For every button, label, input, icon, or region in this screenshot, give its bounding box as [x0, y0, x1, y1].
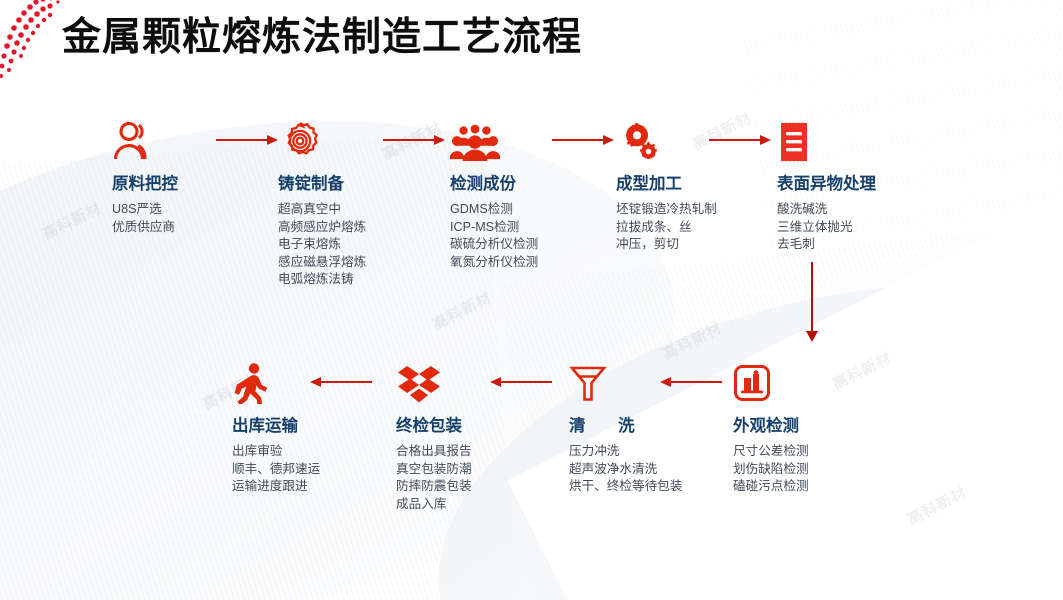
- node-line: 磕碰污点检测: [733, 478, 851, 496]
- node-title: 检测成份: [450, 170, 600, 194]
- node-line: 坯锭锻造冷热轧制: [616, 201, 766, 219]
- node-title: 成型加工: [616, 170, 766, 194]
- node-title: 原料把控: [112, 170, 262, 194]
- node-line: 氧氮分析仪检测: [450, 254, 568, 272]
- flow-node-outbound-transport[interactable]: 出库运输 出库审验 顺丰、德邦速运 运输进度跟进: [232, 352, 382, 496]
- node-line: 压力冲洗: [569, 443, 687, 461]
- node-line: ICP-MS检测: [450, 219, 568, 237]
- node-line: 冲压，剪切: [616, 236, 766, 254]
- node-line: 防摔防震包装: [396, 478, 514, 496]
- node-line: 真空包装防潮: [396, 461, 514, 479]
- page-title: 金属颗粒熔炼法制造工艺流程: [62, 6, 582, 62]
- node-detail-lines: U8S严选 优质供应商: [112, 201, 262, 236]
- inspection-box-icon: [733, 352, 883, 404]
- flow-row-1: 原料把控 U8S严选 优质供应商 铸锭制备 超高真空中 高频感应炉熔炼 电子束熔…: [0, 110, 1063, 290]
- node-line: 酸洗碱洗: [777, 201, 927, 219]
- node-title: 出库运输: [232, 412, 382, 436]
- node-line: 合格出具报告: [396, 443, 514, 461]
- node-line: 拉拔成条、丝: [616, 219, 766, 237]
- node-title: 清 洗: [569, 412, 719, 436]
- node-title: 铸锭制备: [278, 170, 428, 194]
- node-line: 三维立体抛光: [777, 219, 927, 237]
- node-line: 超声波净水清洗: [569, 461, 687, 479]
- node-detail-lines: 压力冲洗 超声波净水清洗 烘干、终检等待包装: [569, 443, 719, 496]
- node-line: 高频感应炉熔炼: [278, 219, 396, 237]
- node-title: 表面异物处理: [777, 170, 927, 194]
- flow-arrow-right: [552, 134, 614, 146]
- flow-node-cleaning[interactable]: 清 洗 压力冲洗 超声波净水清洗 烘干、终检等待包装: [569, 352, 719, 496]
- node-detail-lines: 尺寸公差检测 划伤缺陷检测 磕碰污点检测: [733, 443, 883, 496]
- flow-arrow-left: [490, 376, 552, 388]
- node-line: 划伤缺陷检测: [733, 461, 851, 479]
- node-line: 优质供应商: [112, 219, 230, 237]
- flow-arrow-left: [310, 376, 372, 388]
- flow-arrow-down: [806, 262, 818, 342]
- node-line: 成品入库: [396, 496, 514, 514]
- node-line: 顺丰、德邦速运: [232, 461, 350, 479]
- node-line: U8S严选: [112, 201, 230, 219]
- node-line: 感应磁悬浮熔炼: [278, 254, 396, 272]
- node-title: 外观检测: [733, 412, 883, 436]
- node-detail-lines: 合格出具报告 真空包装防潮 防摔防震包装 成品入库: [396, 443, 546, 513]
- node-line: 烘干、终检等待包装: [569, 478, 687, 496]
- node-detail-lines: 酸洗碱洗 三维立体抛光 去毛刺: [777, 201, 927, 254]
- watermark: 高科新材: [429, 287, 496, 335]
- node-line: 电子束熔炼: [278, 236, 396, 254]
- node-line: 去毛刺: [777, 236, 927, 254]
- node-detail-lines: 超高真空中 高频感应炉熔炼 电子束熔炼 感应磁悬浮熔炼 电弧熔炼法铸: [278, 201, 428, 289]
- page-header: 金属颗粒熔炼法制造工艺流程: [0, 0, 1063, 78]
- node-title: 终检包装: [396, 412, 546, 436]
- node-line: 电弧熔炼法铸: [278, 271, 396, 289]
- document-lines-icon: [777, 110, 927, 162]
- node-detail-lines: 出库审验 顺丰、德邦速运 运输进度跟进: [232, 443, 382, 496]
- flow-node-forming-processing[interactable]: 成型加工 坯锭锻造冷热轧制 拉拔成条、丝 冲压，剪切: [616, 110, 766, 254]
- node-detail-lines: GDMS检测 ICP-MS检测 碳硫分析仪检测 氧氮分析仪检测: [450, 201, 600, 271]
- flow-node-appearance-inspection[interactable]: 外观检测 尺寸公差检测 划伤缺陷检测 磕碰污点检测: [733, 352, 883, 496]
- flow-node-surface-treatment[interactable]: 表面异物处理 酸洗碱洗 三维立体抛光 去毛刺: [777, 110, 927, 254]
- node-line: 碳硫分析仪检测: [450, 236, 568, 254]
- node-line: 出库审验: [232, 443, 350, 461]
- node-line: 超高真空中: [278, 201, 396, 219]
- flow-arrow-right: [216, 134, 278, 146]
- flow-row-2: 出库运输 出库审验 顺丰、德邦速运 运输进度跟进 终检包装 合格出具报告: [0, 352, 1063, 552]
- node-detail-lines: 坯锭锻造冷热轧制 拉拔成条、丝 冲压，剪切: [616, 201, 766, 254]
- flow-node-raw-material-control[interactable]: 原料把控 U8S严选 优质供应商: [112, 110, 262, 236]
- flow-arrow-right: [383, 134, 445, 146]
- node-line: GDMS检测: [450, 201, 568, 219]
- flow-arrow-right: [709, 134, 771, 146]
- node-line: 尺寸公差检测: [733, 443, 851, 461]
- node-line: 运输进度跟进: [232, 478, 350, 496]
- flow-arrow-left: [660, 376, 722, 388]
